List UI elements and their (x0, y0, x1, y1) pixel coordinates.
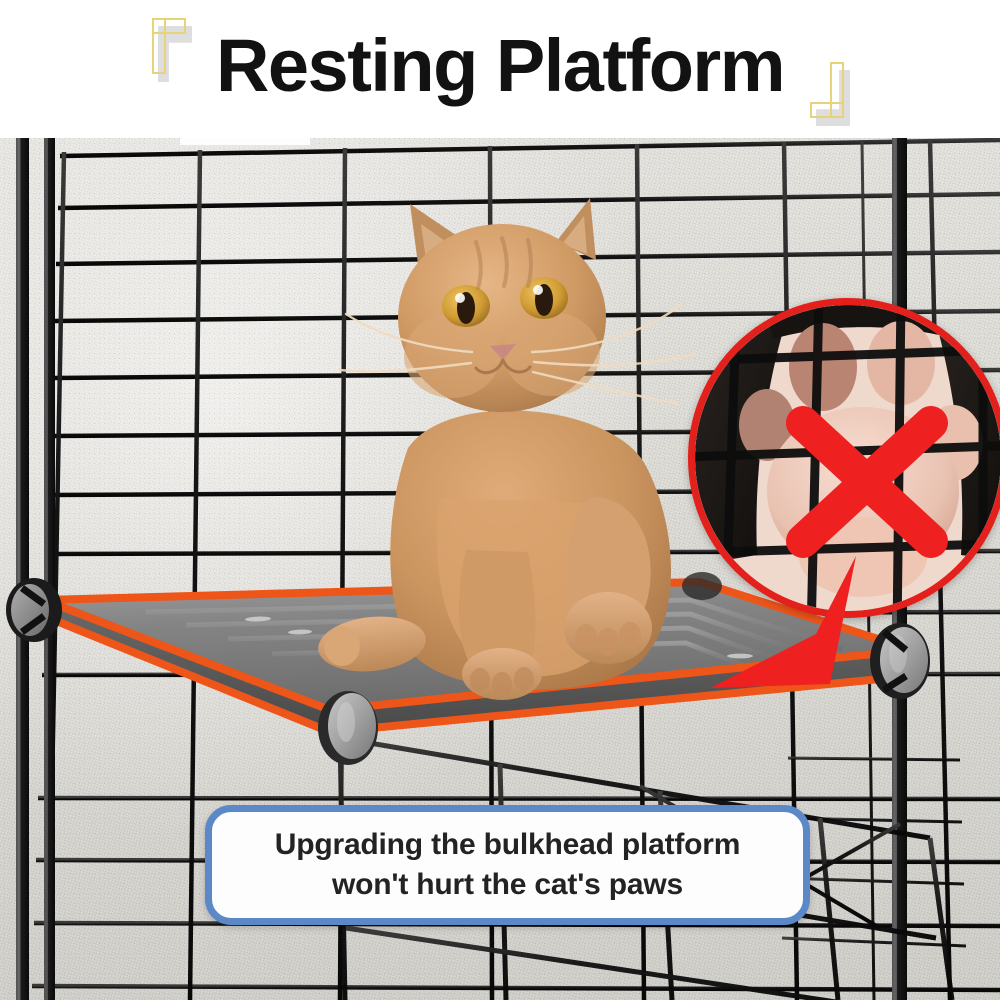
platform-corner-cap-right (870, 623, 930, 699)
bracket-horizontal-arm (152, 18, 186, 34)
callout-line-2: won't hurt the cat's paws (332, 866, 683, 904)
header-banner: Resting Platform (0, 0, 1000, 138)
red-arrow-icon (620, 538, 860, 718)
cat-cheek-left (404, 314, 500, 398)
callout-text: Upgrading the bulkhead platform won't hu… (212, 812, 803, 918)
corner-bracket-bottom-right-icon (810, 62, 844, 118)
bracket-horizontal-arm (810, 102, 844, 118)
cat-eye-left (442, 285, 490, 327)
product-photo: Upgrading the bulkhead platform won't hu… (0, 138, 1000, 1000)
toe-pad-1 (789, 323, 857, 411)
callout-tail (170, 138, 350, 145)
callout-bubble: Upgrading the bulkhead platform won't hu… (205, 805, 810, 925)
callout-line-1: Upgrading the bulkhead platform (275, 826, 740, 864)
page-title: Resting Platform (0, 18, 1000, 114)
corner-bracket-top-left-icon (152, 18, 186, 74)
platform-corner-cap-left (6, 578, 62, 642)
product-infographic: Resting Platform (0, 0, 1000, 1000)
